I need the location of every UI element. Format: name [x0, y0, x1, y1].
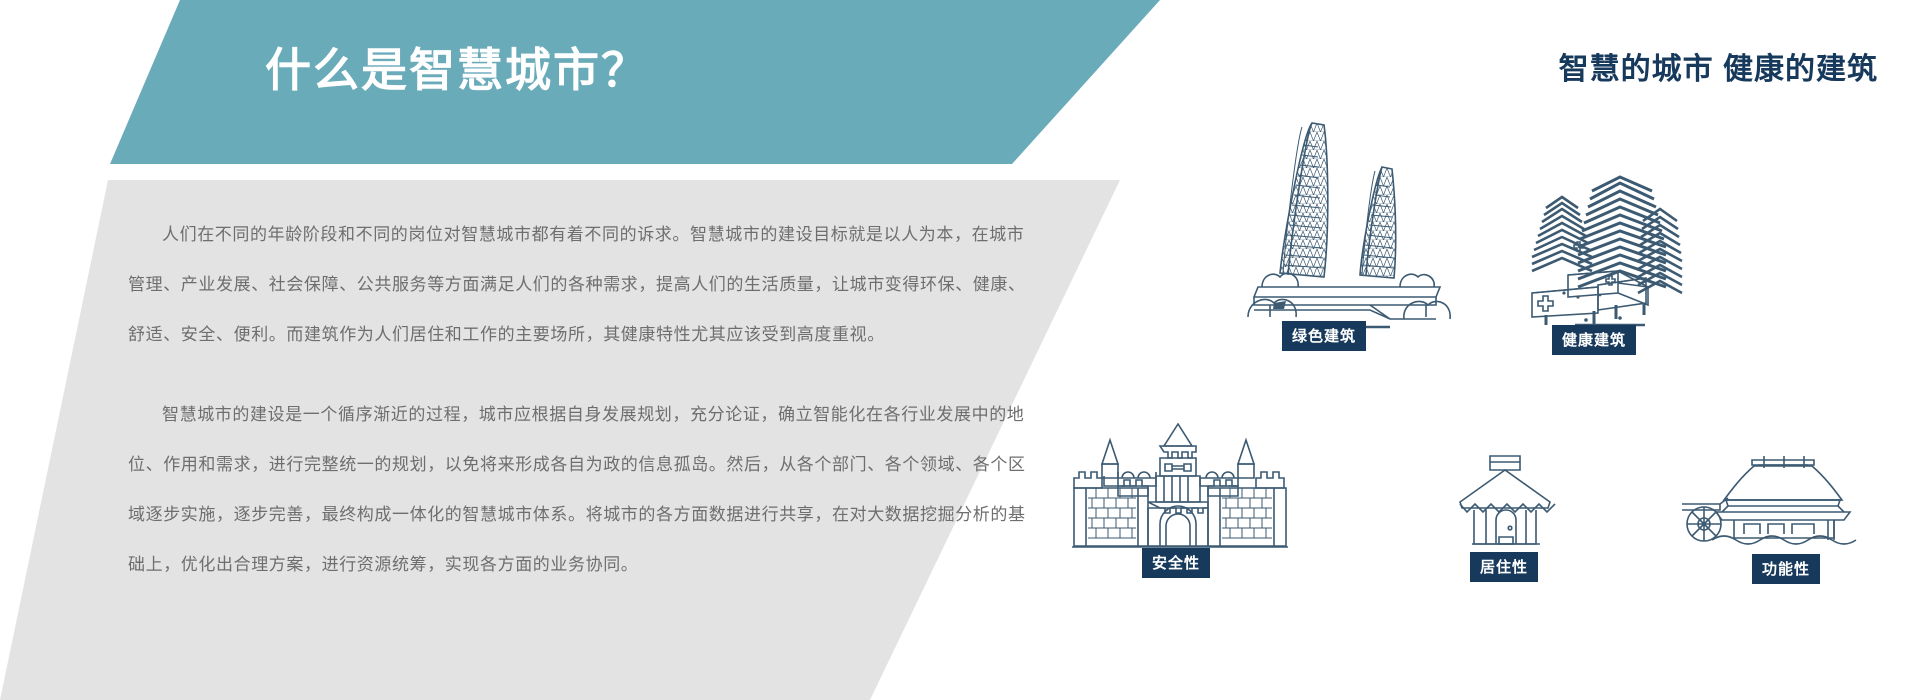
pavilion-watermill-icon	[1690, 450, 1870, 550]
house-icon	[1452, 450, 1562, 550]
badge-livability: 居住性	[1470, 552, 1538, 582]
badge-safety: 安全性	[1142, 548, 1210, 578]
hospital-building-icon	[1520, 175, 1730, 325]
badge-health-building: 健康建筑	[1552, 325, 1636, 355]
page-title: 什么是智慧城市？	[265, 34, 649, 100]
illustration-safety: 安全性	[1060, 420, 1300, 550]
illustration-livability: 居住性	[1452, 450, 1562, 550]
twin-towers-icon	[1240, 105, 1470, 320]
paragraph-1: 人们在不同的年龄阶段和不同的岗位对智慧城市都有着不同的诉求。智慧城市的建设目标就…	[128, 210, 1028, 360]
body-text: 人们在不同的年龄阶段和不同的岗位对智慧城市都有着不同的诉求。智慧城市的建设目标就…	[128, 210, 1028, 590]
illustration-group: 绿色建筑	[1040, 0, 1920, 700]
illustration-green-building: 绿色建筑	[1240, 105, 1470, 320]
paragraph-2: 智慧城市的建设是一个循序渐近的过程，城市应根据自身发展规划，充分论证，确立智能化…	[128, 390, 1028, 590]
illustration-functionality: 功能性	[1690, 450, 1870, 550]
badge-functionality: 功能性	[1752, 554, 1820, 584]
castle-icon	[1060, 420, 1300, 550]
illustration-health-building: 健康建筑	[1520, 175, 1730, 325]
header-tagline: 智慧的城市 健康的建筑	[1559, 44, 1878, 88]
badge-green-building: 绿色建筑	[1282, 321, 1366, 351]
